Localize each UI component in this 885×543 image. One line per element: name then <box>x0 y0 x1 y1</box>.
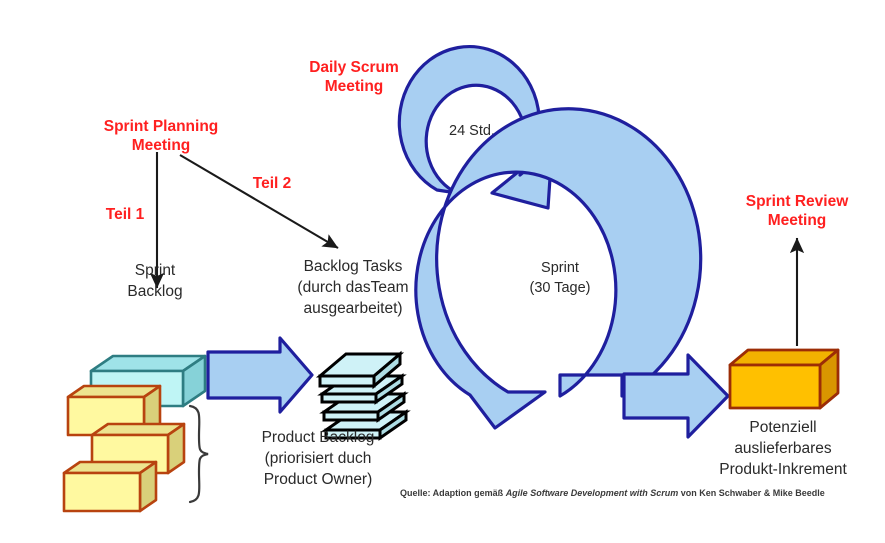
label-backlog-tasks-line2: (durch dasTeam <box>297 279 408 296</box>
source-book-title: Agile Software Development with Scrum <box>505 488 679 498</box>
sprint-cycle-label-line1: Sprint <box>541 260 579 276</box>
label-sprint-planning-meeting-line1: Sprint Planning <box>104 118 219 135</box>
sprint-cycle-label-line2: (30 Tage) <box>530 280 591 296</box>
paper-stack-icon <box>320 354 406 438</box>
label-increment-line1: Potenziell <box>749 419 816 436</box>
label-product-backlog-line1: Product Backlog <box>262 429 375 446</box>
label-sprint-backlog-line2: Backlog <box>127 283 182 300</box>
label-backlog-tasks-line1: Backlog Tasks <box>304 258 403 275</box>
cycle-24h-label: 24 Std. <box>449 123 495 139</box>
label-product-backlog-line3: Product Owner) <box>264 471 373 488</box>
label-sprint-backlog-line1: Sprint <box>135 262 176 279</box>
label-teil-1: Teil 1 <box>106 206 145 223</box>
product-increment-box-icon <box>730 350 838 408</box>
label-sprint-planning-meeting-line2: Meeting <box>132 137 191 154</box>
label-backlog-tasks-line3: ausgearbeitet) <box>303 300 402 317</box>
label-teil-2: Teil 2 <box>253 175 291 192</box>
label-sprint-review-meeting-line2: Meeting <box>768 212 827 229</box>
label-daily-scrum-meeting-line2: Meeting <box>325 78 384 95</box>
label-sprint-review-meeting-line1: Sprint Review <box>746 193 849 210</box>
label-increment-line2: auslieferbares <box>734 440 832 457</box>
source-prefix: Quelle: Adaption gemäß <box>400 488 506 498</box>
source-citation: Quelle: Adaption gemäß Agile Software De… <box>400 488 825 498</box>
label-daily-scrum-meeting-line1: Daily Scrum <box>309 59 399 76</box>
label-product-backlog-line2: (priorisiert duch <box>265 450 372 467</box>
source-suffix: von Ken Schwaber & Mike Beedle <box>678 488 825 498</box>
label-increment-line3: Produkt-Inkrement <box>719 461 847 478</box>
scrum-diagram-canvas: 24 Std. Sprint (30 Tage) <box>0 0 885 543</box>
scrum-diagram: 24 Std. Sprint (30 Tage) <box>0 0 885 543</box>
